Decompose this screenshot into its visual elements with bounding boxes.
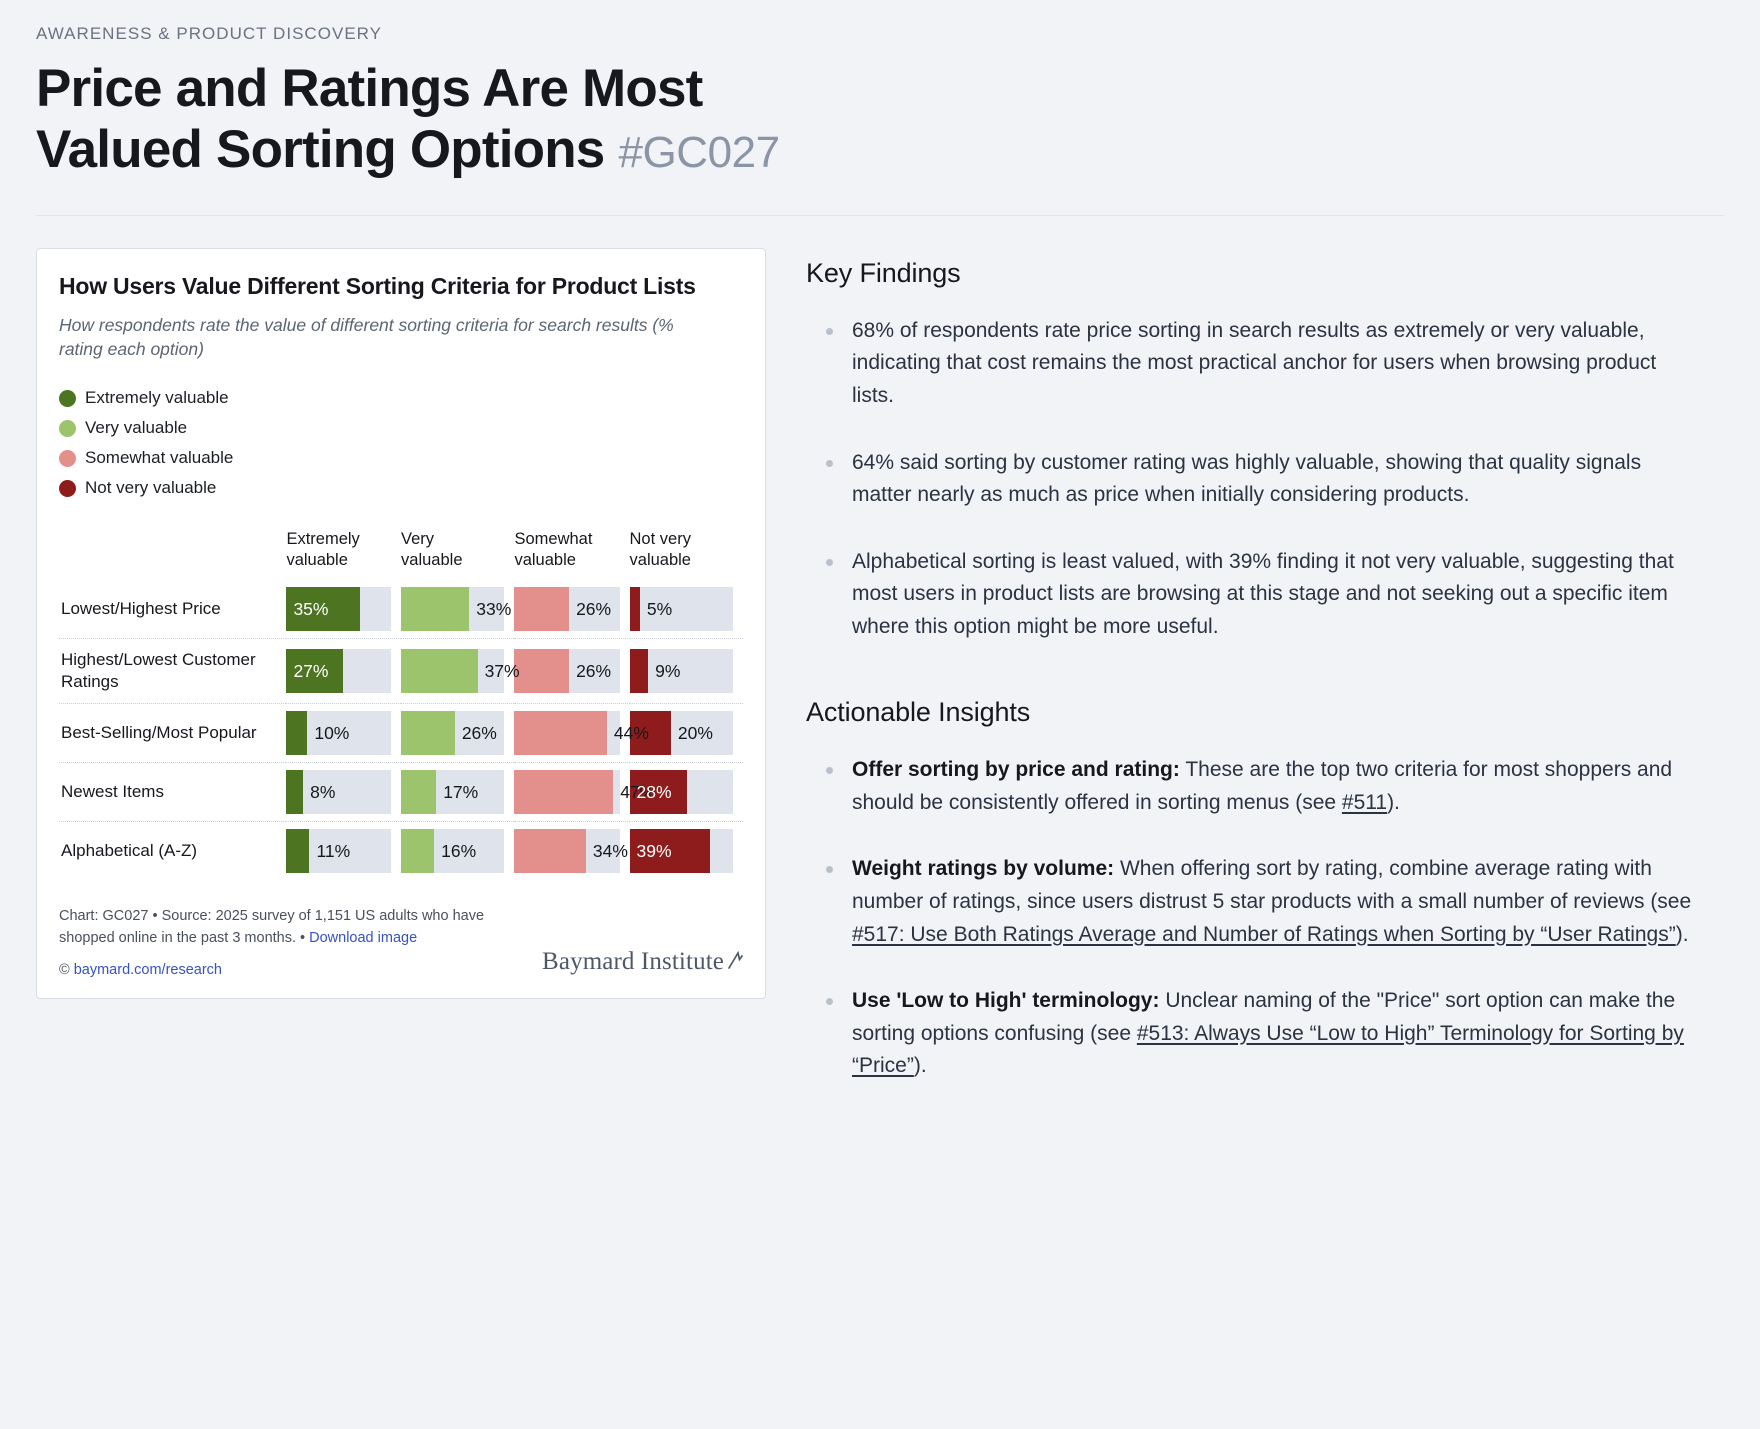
bar-value-label: 17% xyxy=(436,782,478,803)
bar-value-label: 20% xyxy=(671,723,713,744)
matrix-cell: 26% xyxy=(514,580,629,639)
bar-value-label: 44% xyxy=(607,723,649,744)
list-item: Offer sorting by price and rating: These… xyxy=(806,754,1694,819)
bar-value-label: 35% xyxy=(286,599,328,620)
matrix-cell: 11% xyxy=(286,822,401,881)
matrix-cell: 34% xyxy=(514,822,629,881)
insight-lead: Use 'Low to High' terminology: xyxy=(852,989,1159,1012)
bar-value-label: 37% xyxy=(478,661,520,682)
header-divider xyxy=(36,215,1724,216)
page-title-line-1: Price and Ratings Are Most xyxy=(36,59,703,118)
matrix-row-label: Best-Selling/Most Popular xyxy=(59,704,286,763)
actionable-insights-heading: Actionable Insights xyxy=(806,697,1694,728)
matrix-row-label: Newest Items xyxy=(59,763,286,822)
bar-value-label: 39% xyxy=(630,841,672,862)
matrix-cell: 44% xyxy=(514,704,629,763)
bar-fill xyxy=(401,711,455,755)
page-header: AWARENESS & PRODUCT DISCOVERY Price and … xyxy=(36,24,1724,216)
bar-fill xyxy=(401,829,434,873)
bar-value-label: 8% xyxy=(303,782,335,803)
bar-track: 17% xyxy=(401,770,504,814)
bar-track: 5% xyxy=(630,587,733,631)
insight-lead: Offer sorting by price and rating: xyxy=(852,758,1180,781)
bar-track: 47% xyxy=(514,770,619,814)
chart-code: #GC027 xyxy=(618,128,779,177)
bar-track: 35% xyxy=(286,587,391,631)
matrix-cell: 35% xyxy=(286,580,401,639)
list-item: Weight ratings by volume: When offering … xyxy=(806,853,1694,951)
bar-track: 16% xyxy=(401,829,504,873)
table-row: Lowest/Highest Price35%33%26%5% xyxy=(59,580,743,639)
baymard-logo-mark-icon xyxy=(727,948,743,976)
table-row: Alphabetical (A-Z)11%16%34%39% xyxy=(59,822,743,881)
bar-fill xyxy=(514,587,569,631)
chart-copyright: © baymard.com/research xyxy=(59,962,522,978)
legend-item-label: Not very valuable xyxy=(85,478,216,498)
bar-value-label: 5% xyxy=(640,599,672,620)
guideline-link[interactable]: #511 xyxy=(1342,791,1387,814)
matrix-cell: 26% xyxy=(401,704,514,763)
bar-track: 11% xyxy=(286,829,391,873)
legend-item: Extremely valuable xyxy=(59,383,743,413)
chart-card: How Users Value Different Sorting Criter… xyxy=(36,248,766,999)
chart-source-note: Chart: GC027 • Source: 2025 survey of 1,… xyxy=(59,906,522,950)
guideline-link[interactable]: #517: Use Both Ratings Average and Numbe… xyxy=(852,923,1676,946)
bar-track: 26% xyxy=(514,587,619,631)
page-root: AWARENESS & PRODUCT DISCOVERY Price and … xyxy=(0,0,1760,1083)
actionable-insights-list: Offer sorting by price and rating: These… xyxy=(806,754,1694,1082)
column-header-line-2: valuable xyxy=(401,550,504,571)
insights-column: Key Findings 68% of respondents rate pri… xyxy=(806,248,1724,1083)
matrix-body: Lowest/Highest Price35%33%26%5%Highest/L… xyxy=(59,580,743,880)
chart-title: How Users Value Different Sorting Criter… xyxy=(59,273,743,300)
baymard-logo: Baymard Institute xyxy=(542,948,743,978)
bar-value-label: 16% xyxy=(434,841,476,862)
bar-track: 8% xyxy=(286,770,391,814)
bar-track: 9% xyxy=(630,649,733,693)
legend-item-label: Very valuable xyxy=(85,418,187,438)
matrix-row-label: Highest/Lowest Customer Ratings xyxy=(59,639,286,704)
legend-item: Somewhat valuable xyxy=(59,443,743,473)
chart-legend: Extremely valuableVery valuableSomewhat … xyxy=(59,383,743,503)
column-header-line-2: valuable xyxy=(514,550,619,571)
bar-value-label: 28% xyxy=(630,782,672,803)
bar-fill xyxy=(514,829,585,873)
matrix-cell: 26% xyxy=(514,639,629,704)
chart-footer-left: Chart: GC027 • Source: 2025 survey of 1,… xyxy=(59,906,522,978)
bar-value-label: 34% xyxy=(586,841,628,862)
table-row: Newest Items8%17%47%28% xyxy=(59,763,743,822)
insight-body-after: ). xyxy=(1387,791,1400,814)
bar-fill xyxy=(630,587,640,631)
bar-value-label: 33% xyxy=(469,599,511,620)
bar-fill xyxy=(514,770,613,814)
matrix-cell: 16% xyxy=(401,822,514,881)
legend-item-label: Somewhat valuable xyxy=(85,448,233,468)
legend-swatch-icon xyxy=(59,390,76,407)
matrix-cell: 33% xyxy=(401,580,514,639)
bar-track: 39% xyxy=(630,829,733,873)
matrix-cell: 10% xyxy=(286,704,401,763)
bar-value-label: 26% xyxy=(569,599,611,620)
matrix-cell: 28% xyxy=(630,763,743,822)
bar-track: 26% xyxy=(401,711,504,755)
bar-track: 10% xyxy=(286,711,391,755)
column-header-line-2: valuable xyxy=(286,550,391,571)
legend-item: Not very valuable xyxy=(59,473,743,503)
bar-fill xyxy=(286,770,303,814)
bar-fill xyxy=(630,649,649,693)
bar-fill xyxy=(286,829,309,873)
baymard-logo-text: Baymard Institute xyxy=(542,948,724,976)
legend-item: Very valuable xyxy=(59,413,743,443)
chart-column: How Users Value Different Sorting Criter… xyxy=(36,248,766,999)
bar-track: 26% xyxy=(514,649,619,693)
column-header-line-2: valuable xyxy=(630,550,733,571)
bar-value-label: 26% xyxy=(455,723,497,744)
matrix-corner-blank xyxy=(59,529,286,580)
chart-subtitle: How respondents rate the value of differ… xyxy=(59,314,719,361)
insight-body-after: ). xyxy=(1676,923,1689,946)
bar-track: 44% xyxy=(514,711,619,755)
bar-track: 28% xyxy=(630,770,733,814)
legend-swatch-icon xyxy=(59,450,76,467)
matrix-column-header: Extremelyvaluable xyxy=(286,529,401,580)
column-header-line-1: Not very xyxy=(630,529,733,550)
insight-body-after: ). xyxy=(914,1054,927,1077)
matrix-header-row: ExtremelyvaluableVeryvaluableSomewhatval… xyxy=(59,529,743,580)
category-eyebrow: AWARENESS & PRODUCT DISCOVERY xyxy=(36,24,1724,44)
matrix-column-header: Not veryvaluable xyxy=(630,529,743,580)
matrix-cell: 39% xyxy=(630,822,743,881)
bar-track: 33% xyxy=(401,587,504,631)
bar-fill xyxy=(286,711,307,755)
column-header-line-1: Extremely xyxy=(286,529,391,550)
key-findings-heading: Key Findings xyxy=(806,258,1694,289)
matrix-row-label: Alphabetical (A-Z) xyxy=(59,822,286,881)
matrix-column-header: Veryvaluable xyxy=(401,529,514,580)
key-findings-list: 68% of respondents rate price sorting in… xyxy=(806,315,1694,643)
list-item: Alphabetical sorting is least valued, wi… xyxy=(806,546,1694,644)
download-image-link[interactable]: Download image xyxy=(309,930,417,946)
column-header-line-1: Very xyxy=(401,529,504,550)
bar-value-label: 27% xyxy=(286,661,328,682)
legend-swatch-icon xyxy=(59,420,76,437)
chart-footer: Chart: GC027 • Source: 2025 survey of 1,… xyxy=(59,906,743,978)
table-row: Best-Selling/Most Popular10%26%44%20% xyxy=(59,704,743,763)
matrix-row-label: Lowest/Highest Price xyxy=(59,580,286,639)
matrix-cell: 17% xyxy=(401,763,514,822)
chart-source-text: Chart: GC027 • Source: 2025 survey of 1,… xyxy=(59,908,484,946)
list-item: Use 'Low to High' terminology: Unclear n… xyxy=(806,985,1694,1083)
matrix-cell: 47% xyxy=(514,763,629,822)
baymard-research-link[interactable]: baymard.com/research xyxy=(74,962,222,978)
insight-lead: Weight ratings by volume: xyxy=(852,857,1114,880)
bar-fill xyxy=(401,587,469,631)
bar-track: 27% xyxy=(286,649,391,693)
matrix-column-header: Somewhatvaluable xyxy=(514,529,629,580)
column-header-line-1: Somewhat xyxy=(514,529,619,550)
matrix-cell: 9% xyxy=(630,639,743,704)
bar-fill xyxy=(401,649,478,693)
bar-value-label: 11% xyxy=(309,841,350,862)
bar-fill xyxy=(514,711,606,755)
bar-fill xyxy=(401,770,436,814)
page-title-line-2: Valued Sorting Options xyxy=(36,120,605,179)
table-row: Highest/Lowest Customer Ratings27%37%26%… xyxy=(59,639,743,704)
matrix-cell: 37% xyxy=(401,639,514,704)
bar-value-label: 9% xyxy=(648,661,680,682)
bar-value-label: 10% xyxy=(307,723,349,744)
legend-swatch-icon xyxy=(59,480,76,497)
bar-value-label: 26% xyxy=(569,661,611,682)
bar-fill xyxy=(514,649,569,693)
matrix-cell: 27% xyxy=(286,639,401,704)
matrix-header: ExtremelyvaluableVeryvaluableSomewhatval… xyxy=(59,529,743,580)
bar-track: 34% xyxy=(514,829,619,873)
copyright-symbol: © xyxy=(59,962,74,978)
list-item: 68% of respondents rate price sorting in… xyxy=(806,315,1694,413)
bar-track: 37% xyxy=(401,649,504,693)
chart-matrix-table: ExtremelyvaluableVeryvaluableSomewhatval… xyxy=(59,529,743,880)
matrix-cell: 8% xyxy=(286,763,401,822)
content-columns: How Users Value Different Sorting Criter… xyxy=(36,248,1724,1083)
legend-item-label: Extremely valuable xyxy=(85,388,229,408)
list-item: 64% said sorting by customer rating was … xyxy=(806,447,1694,512)
matrix-cell: 5% xyxy=(630,580,743,639)
page-title: Price and Ratings Are Most Valued Sortin… xyxy=(36,58,936,181)
